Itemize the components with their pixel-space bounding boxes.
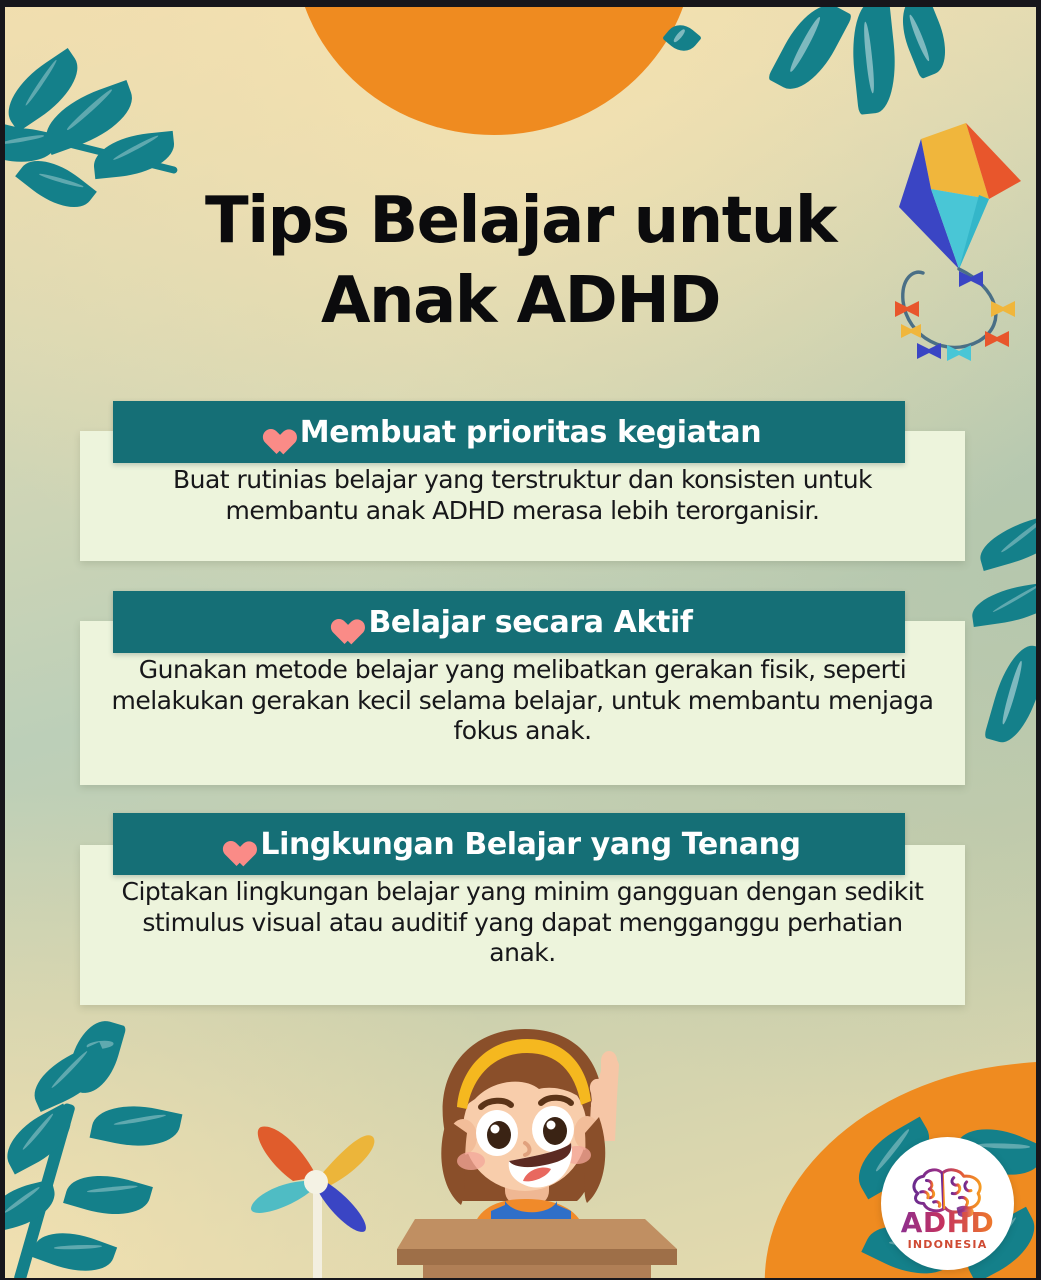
girl-raising-hand-illustration <box>405 1015 655 1280</box>
leaf <box>0 1179 61 1233</box>
tip-body-text: Buat rutinias belajar yang terstruktur d… <box>108 465 937 526</box>
tip-heading: Lingkungan Belajar yang Tenang <box>260 827 800 862</box>
leaf <box>974 511 1041 571</box>
tip-heading: Membuat prioritas kegiatan <box>300 415 762 450</box>
logo-title: ADHD <box>901 1209 995 1237</box>
kite-icon <box>873 125 1013 300</box>
pinwheel-icon <box>237 1105 407 1280</box>
leaf <box>63 1164 153 1225</box>
leaf <box>24 1042 115 1112</box>
tip-card-header: Belajar secara Aktif <box>113 591 905 653</box>
heart-icon <box>325 609 355 636</box>
logo-subtitle: INDONESIA <box>908 1238 988 1251</box>
leaf <box>36 80 142 155</box>
leaf <box>892 0 956 79</box>
heart-icon <box>217 831 247 858</box>
leaf <box>662 18 702 57</box>
infographic-poster: Tips Belajar untuk Anak ADHD Buat ru <box>0 0 1041 1280</box>
tip-card-header: Membuat prioritas kegiatan <box>113 401 905 463</box>
leaf <box>31 1221 117 1280</box>
leaf <box>63 1014 126 1099</box>
branch-stem <box>13 1103 76 1280</box>
orange-circle-top <box>294 0 694 135</box>
leaf <box>767 0 853 100</box>
tip-heading: Belajar secara Aktif <box>368 605 692 640</box>
tip-card-header: Lingkungan Belajar yang Tenang <box>113 813 905 875</box>
leaf <box>0 48 91 132</box>
leaf <box>984 639 1041 748</box>
adhd-indonesia-logo: ADHD INDONESIA <box>881 1137 1014 1270</box>
tip-body-text: Ciptakan lingkungan belajar yang minim g… <box>108 877 937 969</box>
leaf <box>91 131 177 179</box>
leaf <box>0 1104 82 1175</box>
leaf <box>847 0 900 115</box>
heart-icon <box>257 419 287 446</box>
leaf <box>0 120 58 170</box>
leaf <box>969 581 1041 627</box>
branch-stem <box>0 123 178 175</box>
tip-body-text: Gunakan metode belajar yang melibatkan g… <box>108 655 937 747</box>
leaf <box>90 1097 183 1156</box>
